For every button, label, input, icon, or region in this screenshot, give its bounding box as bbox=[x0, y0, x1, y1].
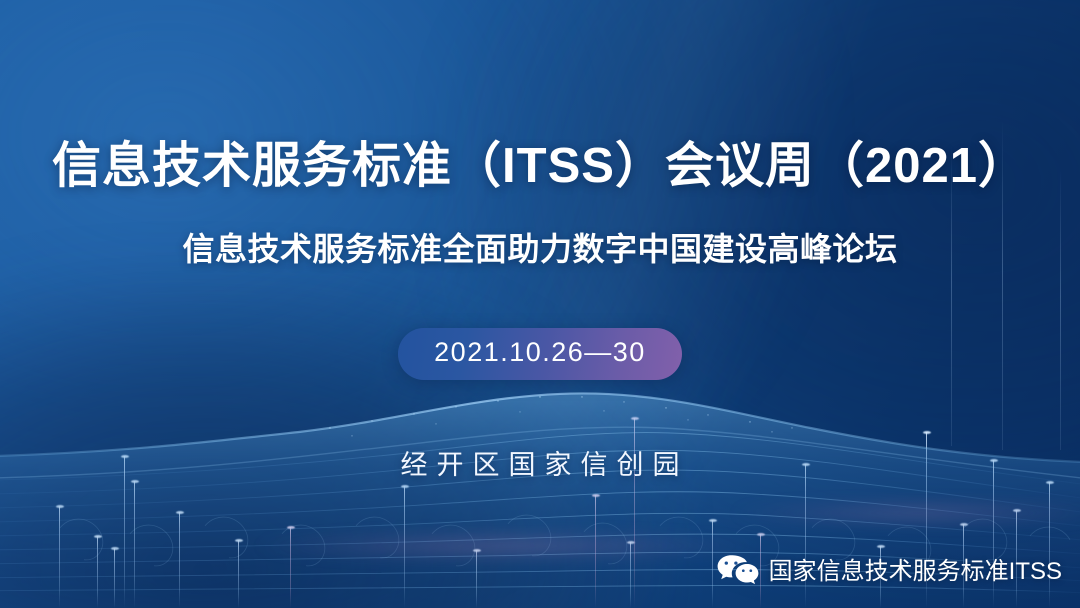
poster-content: 信息技术服务标准（ITSS）会议周（2021） 信息技术服务标准全面助力数字中国… bbox=[0, 0, 1080, 608]
itss-conference-poster: 信息技术服务标准（ITSS）会议周（2021） 信息技术服务标准全面助力数字中国… bbox=[0, 0, 1080, 608]
wechat-icon bbox=[716, 553, 760, 585]
page-title: 信息技术服务标准（ITSS）会议周（2021） bbox=[0, 140, 1080, 194]
wechat-account-name: 国家信息技术服务标准ITSS bbox=[769, 551, 1062, 586]
page-subtitle: 信息技术服务标准全面助力数字中国建设高峰论坛 bbox=[0, 230, 1080, 268]
venue-label: 经开区国家信创园 bbox=[0, 443, 1080, 482]
date-badge: 2021.10.26—30 bbox=[398, 328, 682, 380]
wechat-account-credit: 国家信息技术服务标准ITSS bbox=[716, 551, 1062, 586]
date-badge-container: 2021.10.26—30 bbox=[0, 328, 1080, 380]
